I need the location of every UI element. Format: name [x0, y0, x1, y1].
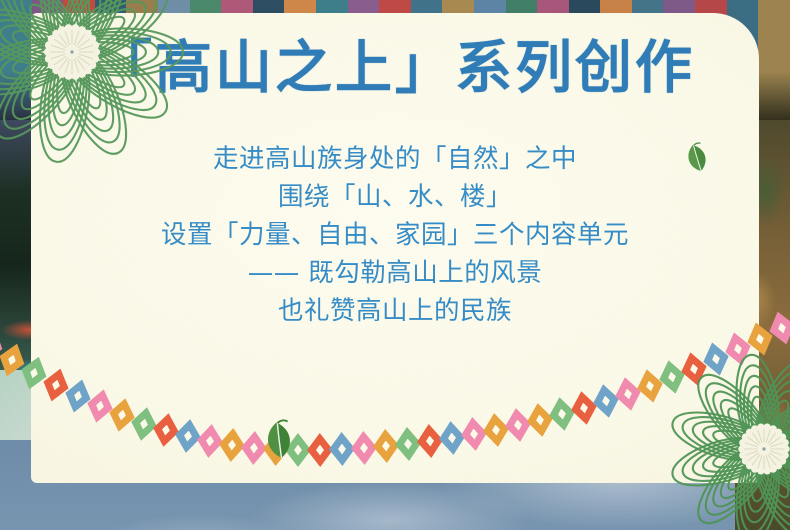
poster-canvas: 「高山之上」系列创作 走进高山族身处的「自然」之中围绕「山、水、楼」设置「力量、… — [0, 0, 790, 530]
description-line: 走进高山族身处的「自然」之中 — [0, 140, 790, 178]
description-line: 也礼赞高山上的民族 — [0, 292, 790, 330]
description-line: 围绕「山、水、楼」 — [0, 178, 790, 216]
description-text: 走进高山族身处的「自然」之中围绕「山、水、楼」设置「力量、自由、家园」三个内容单… — [0, 140, 790, 330]
page-title: 「高山之上」系列创作 — [0, 38, 790, 98]
description-line: —— 既勾勒高山上的风景 — [0, 254, 790, 292]
description-line: 设置「力量、自由、家园」三个内容单元 — [0, 216, 790, 254]
